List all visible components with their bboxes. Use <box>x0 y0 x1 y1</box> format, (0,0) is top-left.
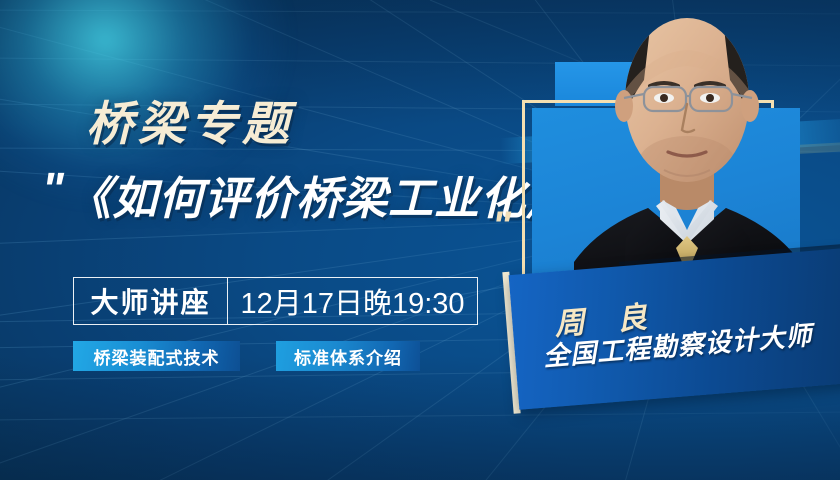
poster-headline: 桥梁专题 <box>86 100 294 147</box>
lecture-datetime: 12月17日晚19:30 <box>228 277 478 325</box>
topic-tag-1: 桥梁装配式技术 <box>73 341 240 371</box>
lecture-info-bar: 大师讲座 12月17日晚19:30 <box>73 277 478 325</box>
topic-tag-row: 桥梁装配式技术 标准体系介绍 <box>73 341 420 371</box>
topic-tag-2: 标准体系介绍 <box>276 341 420 371</box>
lecture-promo-poster: " 桥梁专题 《如何评价桥梁工业化》 " 大师讲座 12月17日晚19:30 桥… <box>0 0 840 480</box>
speaker-nameplate-content: 周 良 全国工程勘察设计大师 <box>509 248 840 410</box>
speaker-composition: 周 良 全国工程勘察设计大师 <box>500 0 840 480</box>
quote-open-mark: " <box>42 166 62 212</box>
lecture-type-label: 大师讲座 <box>73 277 228 325</box>
